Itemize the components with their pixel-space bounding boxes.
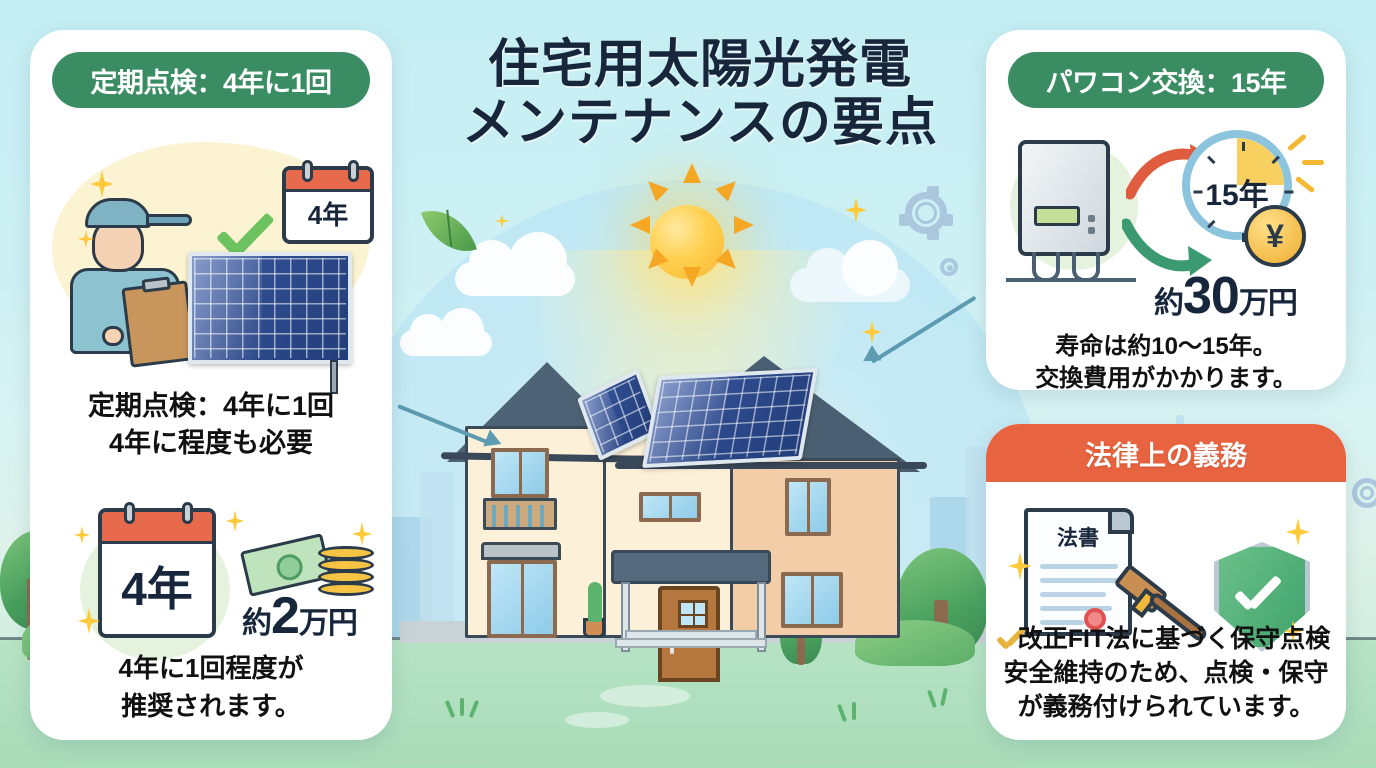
yen-symbol: ¥ bbox=[1266, 218, 1284, 255]
yen-coin-icon: ¥ bbox=[1244, 205, 1306, 267]
calendar-label: 4年 bbox=[121, 563, 193, 615]
cost-amount: 30 bbox=[1183, 267, 1239, 325]
sparkle-icon bbox=[1286, 518, 1310, 546]
plant-icon bbox=[588, 582, 602, 622]
wire bbox=[1006, 278, 1136, 282]
card-inverter[interactable]: パワコン交換：15年 15年 bbox=[986, 30, 1346, 390]
path-spot bbox=[600, 685, 690, 707]
gear-icon bbox=[905, 192, 947, 234]
clock-label: 15年 bbox=[1205, 179, 1268, 212]
legal-header: 法律上の義務 bbox=[986, 424, 1346, 482]
window bbox=[781, 572, 843, 628]
calendar-ring bbox=[348, 160, 359, 182]
window bbox=[785, 478, 831, 536]
sparkle-icon bbox=[352, 522, 372, 546]
awning bbox=[481, 542, 561, 560]
solar-panel-icon bbox=[642, 368, 818, 468]
solar-panel-icon bbox=[188, 252, 352, 364]
legal-body-3: が義務付けられています。 bbox=[986, 692, 1346, 723]
inverter-cost: 約30万円 bbox=[1154, 266, 1297, 326]
cost-suffix: 万円 bbox=[299, 607, 357, 640]
card-legal[interactable]: 法律上の義務 法書 bbox=[986, 424, 1346, 740]
legal-body-1: 改正FIT法に基づく保守点検 bbox=[986, 624, 1346, 655]
inverter-icon bbox=[1018, 140, 1110, 256]
inverter-badge: パワコン交換：15年 bbox=[1008, 52, 1324, 108]
calendar-icon: 4年 bbox=[282, 166, 374, 244]
balcony bbox=[483, 498, 557, 530]
inverter-body-2: 交換費用がかかります。 bbox=[986, 364, 1346, 390]
shine-line bbox=[1287, 134, 1307, 152]
inspection-cost: 約2万円 bbox=[242, 586, 357, 646]
calendar-ring bbox=[182, 502, 193, 524]
title-line-1: 住宅用太陽光発電 bbox=[410, 36, 990, 94]
shine-line bbox=[1295, 176, 1315, 193]
cost-suffix: 万円 bbox=[1239, 287, 1297, 320]
grass-icon bbox=[852, 702, 856, 720]
sparkle-icon bbox=[226, 510, 244, 532]
shine-line bbox=[1302, 160, 1324, 165]
cost-prefix: 約 bbox=[242, 607, 271, 640]
cloud-icon bbox=[455, 262, 575, 296]
inspection-heading-2: 4年に程度も必要 bbox=[30, 427, 392, 461]
inspection-footer-2: 推奨されます。 bbox=[30, 690, 392, 723]
document-fold bbox=[1108, 508, 1134, 534]
page-title: 住宅用太陽光発電 メンテナンスの要点 bbox=[410, 36, 990, 152]
calendar-ring bbox=[124, 502, 135, 524]
calendar-ring bbox=[302, 160, 313, 182]
inverter-body-1: 寿命は約10〜15年。 bbox=[986, 332, 1346, 362]
title-line-2: メンテナンスの要点 bbox=[410, 94, 990, 152]
sparkle-icon bbox=[74, 526, 90, 544]
inverter-badge-label: パワコン交換：15年 bbox=[1045, 61, 1286, 100]
card-inspection[interactable]: 定期点検：4年に1回 4年 bbox=[30, 30, 392, 740]
document-label: 法書 bbox=[1057, 527, 1099, 550]
calendar-label: 4年 bbox=[308, 200, 348, 230]
window bbox=[639, 492, 701, 522]
inspection-badge-label: 定期点検：4年に1回 bbox=[90, 61, 331, 100]
inspection-heading-1: 定期点検：4年に1回 bbox=[30, 390, 392, 424]
legal-body-2: 安全維持のため、点検・保守 bbox=[986, 658, 1346, 689]
infographic-canvas: 住宅用太陽光発電 メンテナンスの要点 定期点検：4年に1回 bbox=[0, 0, 1376, 768]
inspection-badge: 定期点検：4年に1回 bbox=[52, 52, 370, 108]
cloud-icon bbox=[790, 268, 910, 302]
legal-header-label: 法律上の義務 bbox=[1085, 434, 1247, 473]
cost-prefix: 約 bbox=[1154, 287, 1183, 320]
gear-icon bbox=[1352, 478, 1376, 508]
inspection-footer-1: 4年に1回程度が bbox=[30, 652, 392, 685]
gear-icon bbox=[940, 258, 958, 276]
house-illustration bbox=[455, 350, 925, 650]
cost-amount: 2 bbox=[271, 587, 299, 645]
window bbox=[487, 560, 557, 638]
grass-icon bbox=[460, 698, 464, 716]
calendar-icon: 4年 bbox=[98, 508, 216, 638]
panel-stand bbox=[330, 360, 338, 394]
path-spot bbox=[565, 712, 629, 728]
window bbox=[491, 448, 549, 498]
